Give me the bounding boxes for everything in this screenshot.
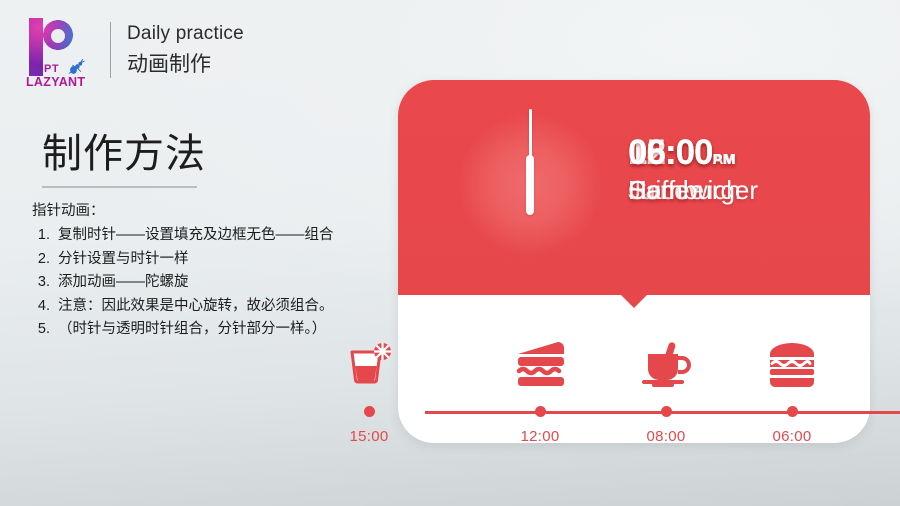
cake-slice-icon	[481, 330, 599, 388]
headline-text-stack: 15:00PM Juice 12:00AM Sandwich 08:00AM C…	[628, 135, 864, 225]
timeline-label: 15:00	[310, 428, 428, 445]
timeline-item-juice[interactable]: 15:00	[310, 330, 428, 445]
list-item: 复制时针——设置填充及边框无色——组合	[54, 224, 412, 247]
list-item: 分针设置与时针一样	[54, 248, 412, 271]
hour-hand-icon[interactable]	[526, 155, 534, 215]
menu-icon[interactable]	[88, 485, 105, 500]
headline-hour: 06	[628, 133, 665, 172]
page-title: 制作方法	[42, 134, 206, 174]
list-item: 注意：因此效果是中心旋转，故必须组合。	[54, 295, 412, 318]
timeline-dot	[364, 406, 375, 417]
headline-time: 06:00PM	[628, 135, 735, 170]
logo-wordmark: LAZYANT	[26, 76, 85, 89]
card-red-panel: 15:00PM Juice 12:00AM Sandwich 08:00AM C…	[398, 80, 870, 295]
header-title-cn: 动画制作	[127, 50, 244, 79]
timeline-dot	[535, 406, 546, 417]
headline-sep: :	[665, 133, 676, 172]
headline-ampm: PM	[713, 151, 736, 168]
timeline-dot	[661, 406, 672, 417]
timeline-dot	[787, 406, 798, 417]
slide-icon[interactable]	[62, 485, 79, 500]
app-chrome-bar	[10, 485, 105, 500]
timeline-label: 08:00	[607, 428, 725, 445]
meal-timeline: 15:00 12:00	[398, 330, 900, 445]
logo-p-counter	[51, 29, 65, 43]
juice-glass-icon	[310, 330, 428, 388]
instruction-list: 复制时针——设置填充及边框无色——组合 分针设置与时针一样 添加动画——陀螺旋 …	[32, 224, 412, 341]
header-title-group: Daily practice 动画制作	[127, 18, 244, 79]
list-item: 添加动画——陀螺旋	[54, 271, 412, 294]
timeline-label: 12:00	[481, 428, 599, 445]
headline-layer: 06:00PM Hamburger	[628, 135, 864, 225]
timeline-label: 06:00	[733, 428, 851, 445]
header-title-en: Daily practice	[127, 20, 244, 48]
page-title-block: 制作方法	[42, 134, 206, 188]
instruction-body: 指针动画： 复制时针——设置填充及边框无色——组合 分针设置与时针一样 添加动画…	[32, 200, 412, 342]
timeline-item-sandwich[interactable]: 12:00	[481, 330, 599, 445]
brand-logo: PT LAZYANT	[26, 18, 92, 90]
logo-pt-label: PT	[44, 64, 59, 75]
instruction-lead: 指针动画：	[32, 200, 412, 223]
timeline-item-coffee[interactable]: 08:00	[607, 330, 725, 445]
back-arrow-icon[interactable]	[10, 485, 27, 500]
slide-canvas: PT LAZYANT Daily practice 动画制作 制作方法 指针动画…	[0, 0, 900, 506]
timeline-item-hamburger[interactable]: 06:00	[733, 330, 851, 445]
card-notch-triangle	[621, 295, 647, 308]
pointer-icon[interactable]	[36, 485, 53, 500]
headline-meal-name: Hamburger	[628, 177, 758, 203]
headline-min: 00	[676, 133, 713, 172]
header-divider	[110, 22, 111, 78]
coffee-cup-icon	[607, 330, 725, 388]
slide-header: PT LAZYANT Daily practice 动画制作	[26, 18, 244, 90]
ant-icon	[68, 59, 85, 75]
title-underline	[42, 186, 197, 188]
hamburger-icon	[733, 330, 851, 388]
